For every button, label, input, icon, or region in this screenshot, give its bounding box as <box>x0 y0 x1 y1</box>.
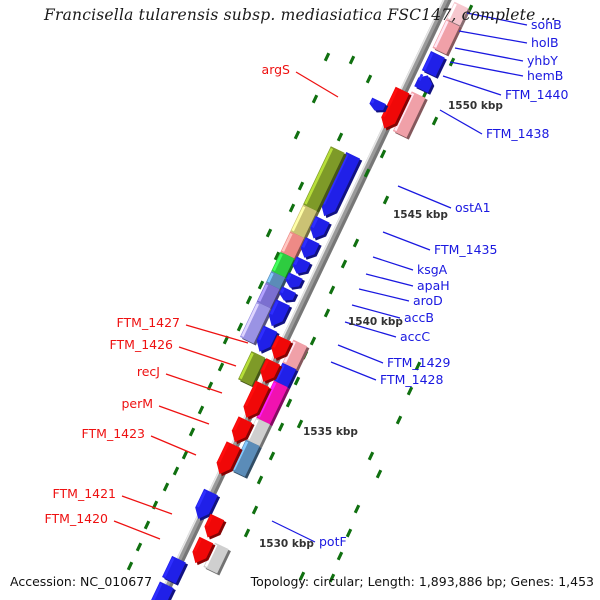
label-leader-line <box>338 345 383 363</box>
label-leader-line <box>122 496 172 514</box>
ruler-label: 1535 kbp <box>303 427 358 438</box>
gene-label-holb[interactable]: holB <box>531 37 559 50</box>
label-leader-line <box>179 347 236 366</box>
gene-label-perm[interactable]: perM <box>121 398 153 411</box>
label-leader-line <box>359 289 409 301</box>
ruler-label: 1540 kbp <box>348 317 403 328</box>
ruler-label: 1530 kbp <box>259 539 314 550</box>
gene-label-ftm-1438[interactable]: FTM_1438 <box>486 128 549 141</box>
gene-label-ksga[interactable]: ksgA <box>417 264 447 277</box>
ruler-label: 1545 kbp <box>393 210 448 221</box>
label-leader-line <box>450 62 523 76</box>
label-leader-line <box>151 436 196 455</box>
gene-label-accc[interactable]: accC <box>400 331 430 344</box>
page-title: Francisella tularensis subsp. mediasiati… <box>0 6 600 24</box>
label-leader-line <box>366 274 413 286</box>
label-leader-line <box>296 72 338 97</box>
label-leader-line <box>114 521 160 539</box>
label-leader-line <box>331 362 376 380</box>
gene-label-args[interactable]: argS <box>262 64 290 77</box>
gene-label-ftm-1435[interactable]: FTM_1435 <box>434 244 497 257</box>
gene-label-ftm-1421[interactable]: FTM_1421 <box>53 488 116 501</box>
gene-label-yhby[interactable]: yhbY <box>527 55 558 68</box>
gene-label-arod[interactable]: aroD <box>413 295 443 308</box>
genome-viewer: Francisella tularensis subsp. mediasiati… <box>0 0 600 600</box>
label-leader-line <box>383 232 430 250</box>
gene-label-ftm-1440[interactable]: FTM_1440 <box>505 89 568 102</box>
label-leader-line <box>166 374 222 393</box>
genome-stats-text: Topology: circular; Length: 1,893,886 bp… <box>251 574 594 589</box>
label-leader-line <box>159 406 209 424</box>
label-leader-line <box>459 31 527 43</box>
gene-label-hemb[interactable]: hemB <box>527 70 563 83</box>
gene-label-ftm-1426[interactable]: FTM_1426 <box>110 339 173 352</box>
gene-label-ftm-1429[interactable]: FTM_1429 <box>387 357 450 370</box>
gene-label-accb[interactable]: accB <box>404 312 434 325</box>
label-leader-line <box>443 76 501 95</box>
gene-label-ftm-1420[interactable]: FTM_1420 <box>45 513 108 526</box>
gene-label-ftm-1423[interactable]: FTM_1423 <box>82 428 145 441</box>
label-leader-line <box>398 186 451 208</box>
gene-label-potf[interactable]: potF <box>319 536 347 549</box>
gene-label-osta1[interactable]: ostA1 <box>455 202 491 215</box>
gene-label-ftm-1428[interactable]: FTM_1428 <box>380 374 443 387</box>
gene-label-recj[interactable]: recJ <box>137 366 160 379</box>
gene-label-apah[interactable]: apaH <box>417 280 450 293</box>
label-leader-line <box>455 48 523 61</box>
accession-text: Accession: NC_010677 <box>10 574 152 589</box>
ruler-label: 1550 kbp <box>448 101 503 112</box>
label-leader-line <box>373 257 413 270</box>
gene-label-ftm-1427[interactable]: FTM_1427 <box>117 317 180 330</box>
label-leader-line <box>440 110 482 134</box>
label-leader-line <box>186 325 248 343</box>
